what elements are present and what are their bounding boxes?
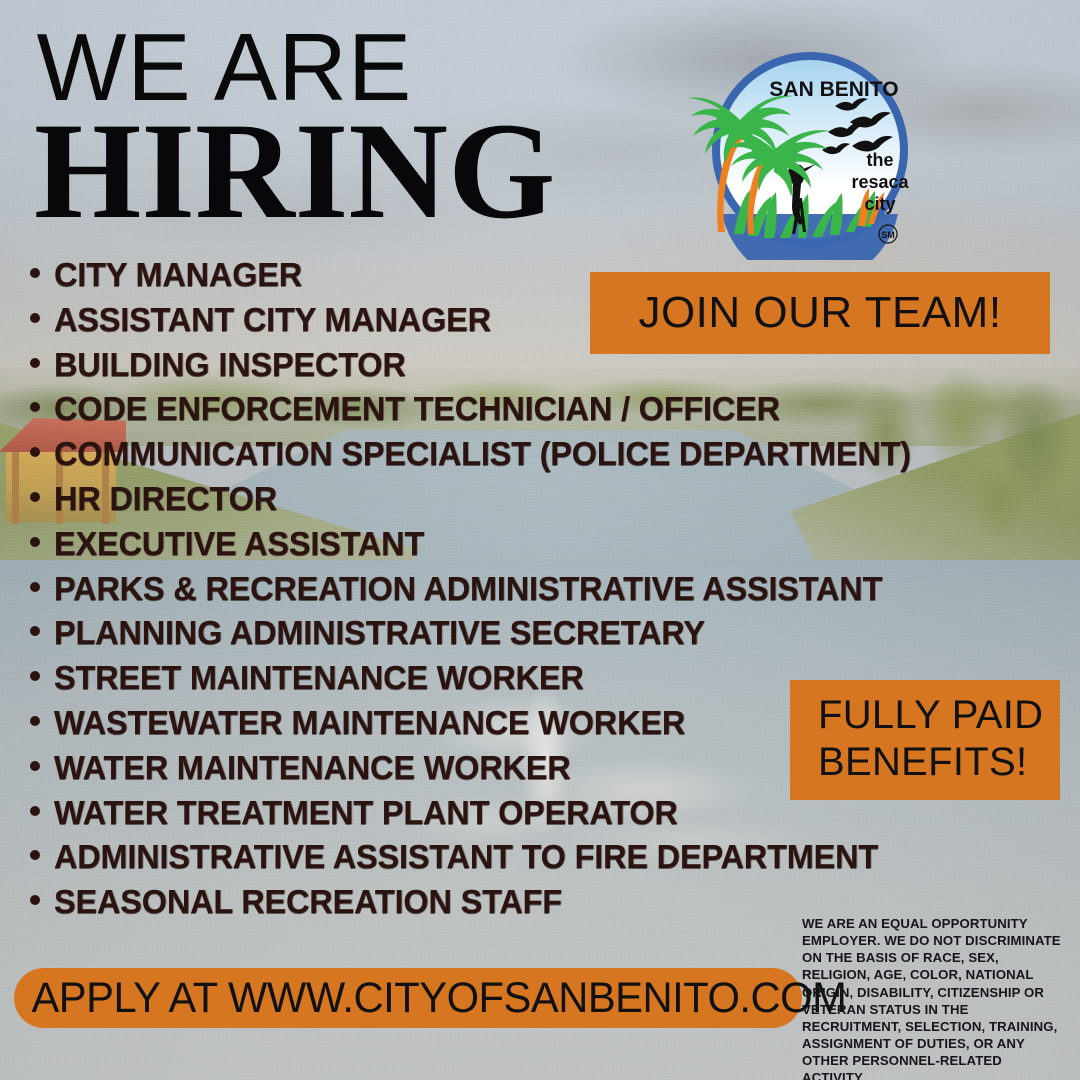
bullet-icon [30, 402, 40, 412]
list-item: WATER TREATMENT PLANT OPERATOR [30, 794, 1030, 839]
bullet-icon [30, 806, 40, 816]
bullet-icon [30, 537, 40, 547]
san-benito-logo: SAN BENITO the resaca city SM [652, 38, 914, 260]
job-title: WATER MAINTENANCE WORKER [54, 749, 571, 787]
bullet-icon [30, 626, 40, 636]
job-title: COMMUNICATION SPECIALIST (POLICE DEPARTM… [54, 435, 911, 473]
bullet-icon [30, 313, 40, 323]
bullet-icon [30, 358, 40, 368]
list-item: HR DIRECTOR [30, 480, 1030, 525]
headline: WE ARE HIRING [34, 24, 555, 227]
headline-line-2: HIRING [34, 114, 555, 227]
benefits-label-line-2: BENEFITS! [818, 739, 1060, 786]
service-mark-label: SM [881, 230, 895, 240]
list-item: CODE ENFORCEMENT TECHNICIAN / OFFICER [30, 390, 1030, 435]
list-item: ADMINISTRATIVE ASSISTANT TO FIRE DEPARTM… [30, 838, 1030, 883]
job-title: SEASONAL RECREATION STAFF [54, 883, 562, 921]
apply-cta-label: APPLY AT WWW.CITYOFSANBENITO.COM [14, 974, 846, 1023]
job-title: ASSISTANT CITY MANAGER [54, 301, 491, 339]
job-title: STREET MAINTENANCE WORKER [54, 659, 584, 697]
job-title: PLANNING ADMINISTRATIVE SECRETARY [54, 614, 705, 652]
bullet-icon [30, 447, 40, 457]
fully-paid-benefits-badge: FULLY PAID BENEFITS! [790, 680, 1060, 800]
job-openings-list: CITY MANAGER ASSISTANT CITY MANAGER BUIL… [30, 256, 1030, 928]
seal-tagline-city: city [864, 194, 895, 214]
job-title: PARKS & RECREATION ADMINISTRATIVE ASSIST… [54, 570, 882, 608]
job-title: BUILDING INSPECTOR [54, 346, 406, 384]
join-our-team-badge: JOIN OUR TEAM! [590, 272, 1050, 354]
join-our-team-label: JOIN OUR TEAM! [638, 288, 1001, 338]
list-item: PLANNING ADMINISTRATIVE SECRETARY [30, 614, 1030, 659]
job-title: WATER TREATMENT PLANT OPERATOR [54, 794, 678, 832]
apply-cta-pill[interactable]: APPLY AT WWW.CITYOFSANBENITO.COM [14, 968, 802, 1028]
job-title: ADMINISTRATIVE ASSISTANT TO FIRE DEPARTM… [54, 838, 878, 876]
seal-tagline-resaca: resaca [851, 172, 909, 192]
bullet-icon [30, 671, 40, 681]
job-title: CODE ENFORCEMENT TECHNICIAN / OFFICER [54, 390, 780, 428]
bullet-icon [30, 850, 40, 860]
seal-tagline-the: the [867, 150, 894, 170]
list-item: COMMUNICATION SPECIALIST (POLICE DEPARTM… [30, 435, 1030, 480]
hiring-poster: WE ARE HIRING [0, 0, 1080, 1080]
bullet-icon [30, 582, 40, 592]
job-title: EXECUTIVE ASSISTANT [54, 525, 424, 563]
job-title: WASTEWATER MAINTENANCE WORKER [54, 704, 685, 742]
bullet-icon [30, 492, 40, 502]
bullet-icon [30, 761, 40, 771]
benefits-label-line-1: FULLY PAID [818, 692, 1060, 739]
equal-opportunity-notice: WE ARE AN EQUAL OPPORTUNITY EMPLOYER. WE… [802, 915, 1064, 1080]
job-title: HR DIRECTOR [54, 480, 277, 518]
list-item: PARKS & RECREATION ADMINISTRATIVE ASSIST… [30, 570, 1030, 615]
bullet-icon [30, 268, 40, 278]
bullet-icon [30, 895, 40, 905]
seal-city-name: SAN BENITO [769, 78, 898, 101]
headline-line-1: WE ARE [37, 24, 553, 112]
list-item: EXECUTIVE ASSISTANT [30, 525, 1030, 570]
job-title: CITY MANAGER [54, 256, 302, 294]
bullet-icon [30, 716, 40, 726]
